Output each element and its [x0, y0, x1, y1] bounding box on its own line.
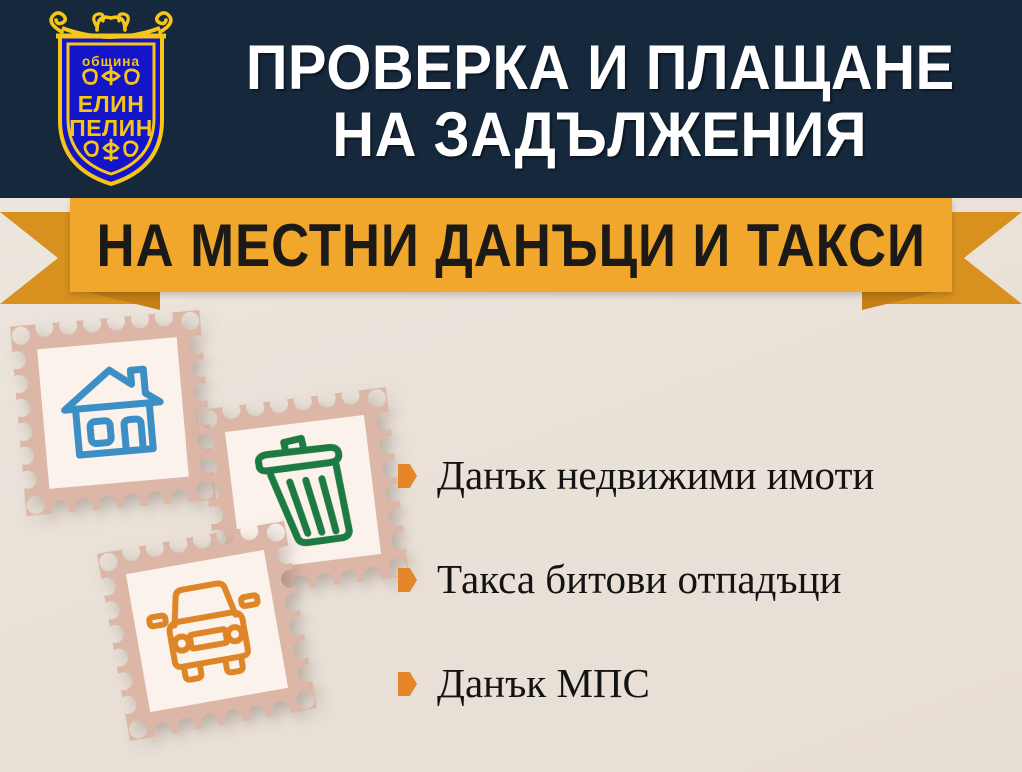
services-list: Данък недвижими имоти Такса битови отпад… — [398, 424, 1008, 736]
title-line-1: ПРОВЕРКА И ПЛАЩАНЕ — [246, 35, 955, 102]
arrow-bullet-icon — [398, 568, 417, 592]
stamp-card-property — [10, 310, 216, 516]
subtitle-ribbon: НА МЕСТНИ ДАНЪЦИ И ТАКСИ — [0, 198, 1022, 310]
list-item[interactable]: Данък недвижими имоти — [398, 424, 1008, 528]
ribbon-banner: НА МЕСТНИ ДАНЪЦИ И ТАКСИ — [70, 198, 952, 292]
svg-text:ПЕЛИН: ПЕЛИН — [69, 115, 153, 141]
ribbon-label: НА МЕСТНИ ДАНЪЦИ И ТАКСИ — [96, 211, 925, 280]
list-item-label: Такса битови отпадъци — [437, 557, 841, 602]
list-item[interactable]: Такса битови отпадъци — [398, 528, 1008, 632]
title-line-2: НА ЗАДЪЛЖЕНИЯ — [333, 102, 868, 169]
list-item[interactable]: Данък МПС — [398, 632, 1008, 736]
municipality-crest: община ЕЛИН ПЕЛИН — [38, 8, 184, 190]
poster-root: община ЕЛИН ПЕЛИН ПРОВЕРКА И ПЛАЩАНЕ Н — [0, 0, 1022, 772]
arrow-bullet-icon — [398, 464, 417, 488]
poster-title: ПРОВЕРКА И ПЛАЩАНЕ НА ЗАДЪЛЖЕНИЯ — [190, 14, 1010, 190]
list-item-label: Данък недвижими имоти — [437, 453, 874, 498]
stamp-card-vehicle — [97, 521, 317, 741]
list-item-label: Данък МПС — [437, 661, 650, 706]
arrow-bullet-icon — [398, 672, 417, 696]
svg-text:ЕЛИН: ЕЛИН — [78, 91, 145, 117]
